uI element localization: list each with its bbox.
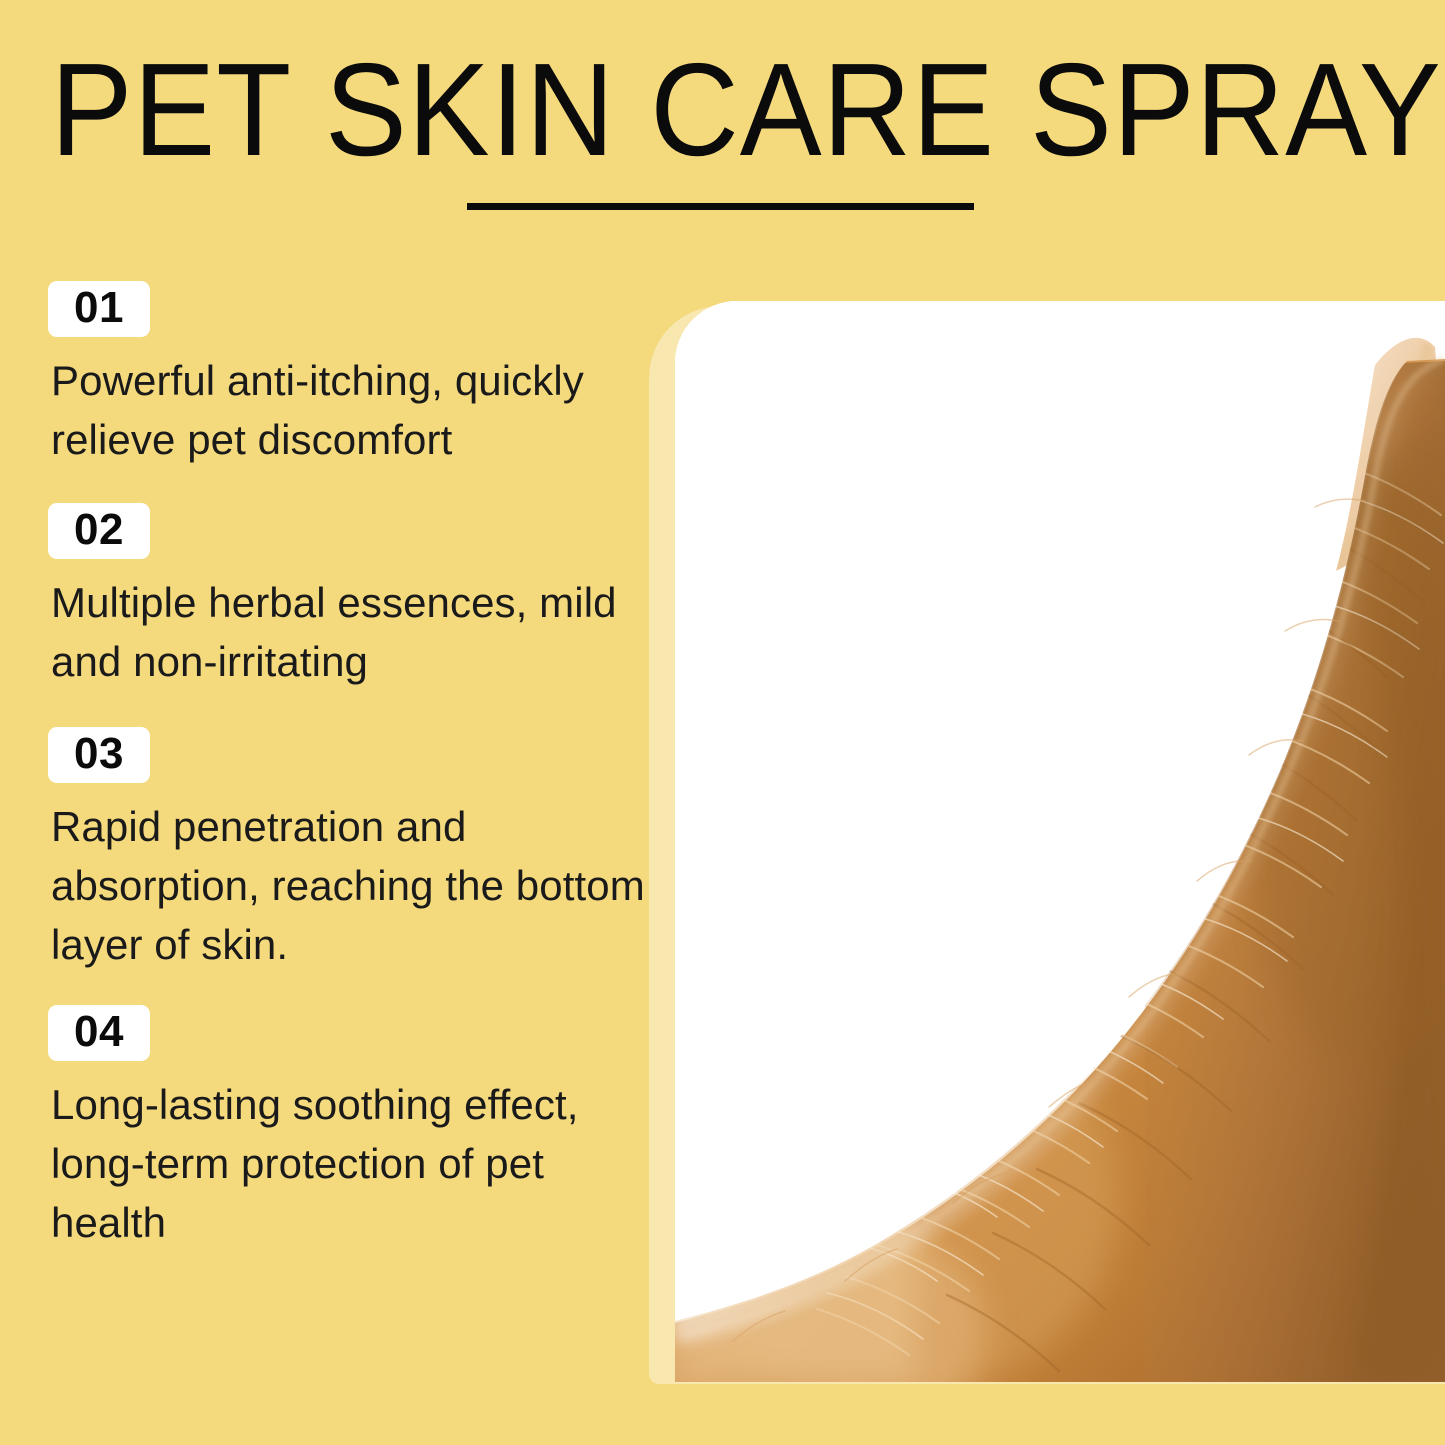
feature-item-03: 03 Rapid penetration and absorption, rea… xyxy=(48,727,648,974)
photo-panel xyxy=(675,301,1445,1382)
feature-number-badge: 03 xyxy=(48,727,150,783)
feature-item-04: 04 Long-lasting soothing effect, long-te… xyxy=(48,1005,648,1252)
feature-description: Rapid penetration and absorption, reachi… xyxy=(51,797,648,974)
feature-list: 01 Powerful anti-itching, quickly reliev… xyxy=(48,281,648,1252)
feature-item-01: 01 Powerful anti-itching, quickly reliev… xyxy=(48,281,648,469)
feature-number-badge: 01 xyxy=(48,281,150,337)
page-title: PET SKIN CARE SPRAY xyxy=(51,44,1395,176)
title-underline-rule xyxy=(467,203,974,210)
feature-item-02: 02 Multiple herbal essences, mild and no… xyxy=(48,503,648,691)
feature-description: Long-lasting soothing effect, long-term … xyxy=(51,1075,648,1252)
feature-number-badge: 04 xyxy=(48,1005,150,1061)
product-infographic-poster: PET SKIN CARE SPRAY 01 Powerful anti-itc… xyxy=(0,0,1445,1445)
cat-photo-illustration xyxy=(675,301,1445,1382)
cat-photo xyxy=(675,301,1445,1382)
feature-description: Powerful anti-itching, quickly relieve p… xyxy=(51,351,648,469)
feature-number-badge: 02 xyxy=(48,503,150,559)
feature-description: Multiple herbal essences, mild and non-i… xyxy=(51,573,648,691)
